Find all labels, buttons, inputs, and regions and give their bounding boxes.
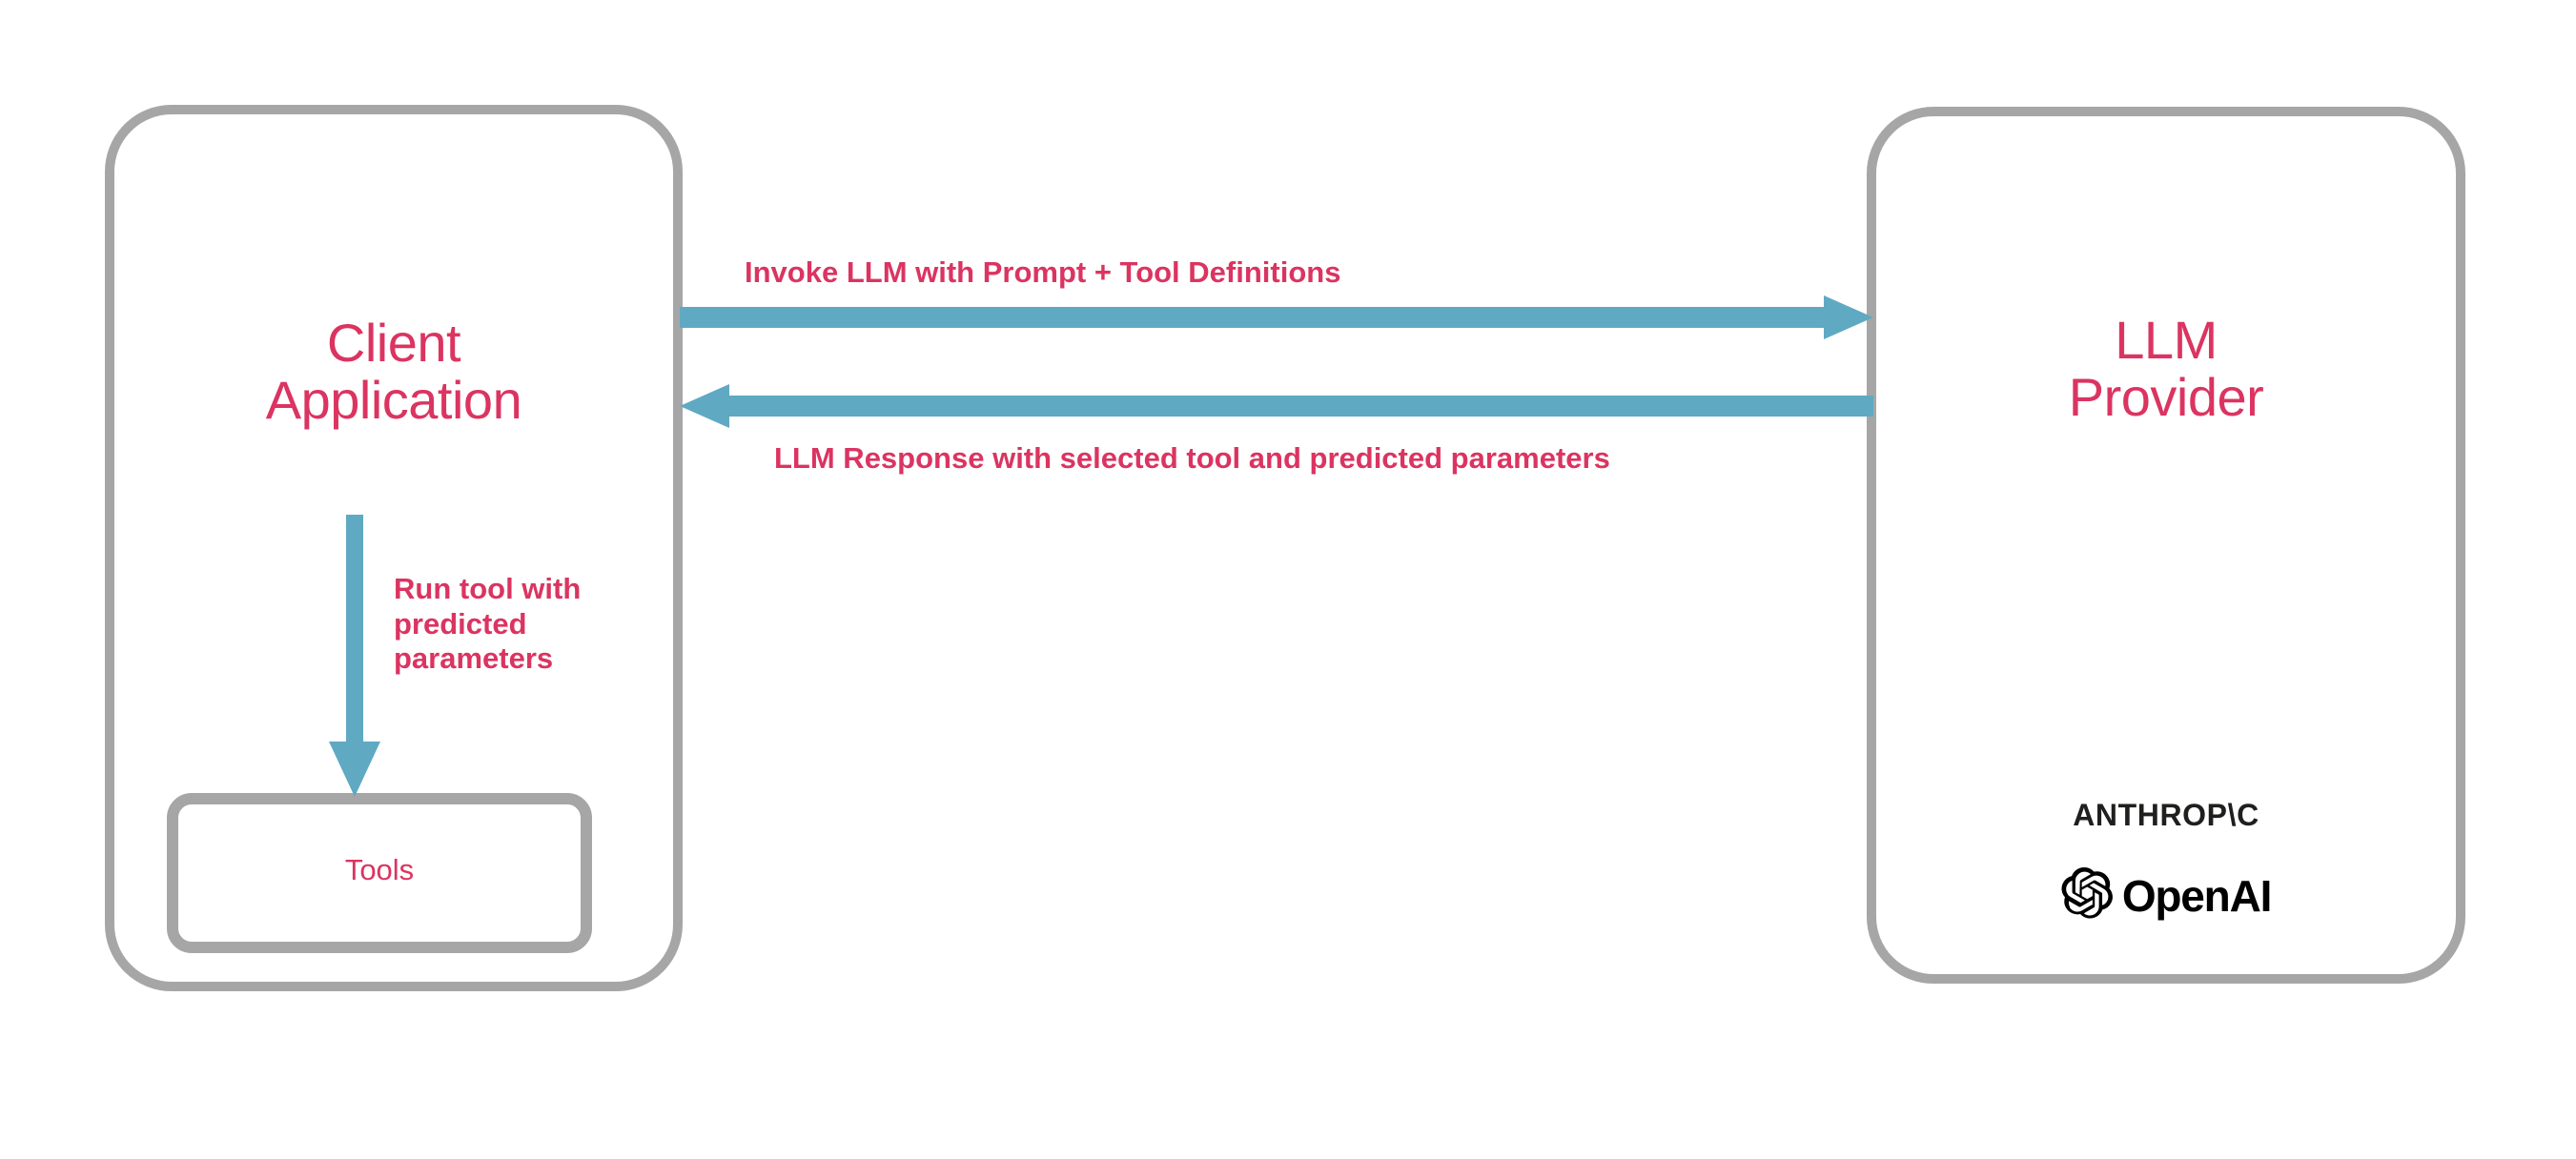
openai-mark-icon [2061, 867, 2113, 924]
llm-response-arrow [680, 384, 1873, 441]
llm-response-arrow-label: LLM Response with selected tool and pred… [774, 441, 1610, 477]
client-title-line-1: Client [124, 315, 664, 372]
diagram-canvas: Client Application Tools LLM Provider AN… [0, 0, 2576, 1159]
llm-provider-node[interactable] [1867, 107, 2465, 984]
provider-title-line-2: Provider [1886, 369, 2446, 426]
invoke-llm-arrow-label: Invoke LLM with Prompt + Tool Definition… [745, 255, 1340, 291]
client-application-title: Client Application [124, 315, 664, 430]
client-title-line-2: Application [124, 372, 664, 429]
run-tool-arrow-label: Run tool with predicted parameters [394, 572, 651, 677]
provider-title-line-1: LLM [1886, 312, 2446, 369]
invoke-llm-arrow [680, 295, 1873, 353]
openai-logo: OpenAI [1867, 867, 2465, 924]
anthropic-logo: ANTHROP\C [1867, 798, 2465, 833]
llm-provider-title: LLM Provider [1886, 312, 2446, 427]
openai-wordmark-label: OpenAI [2122, 870, 2271, 922]
tools-node-label: Tools [167, 853, 592, 887]
